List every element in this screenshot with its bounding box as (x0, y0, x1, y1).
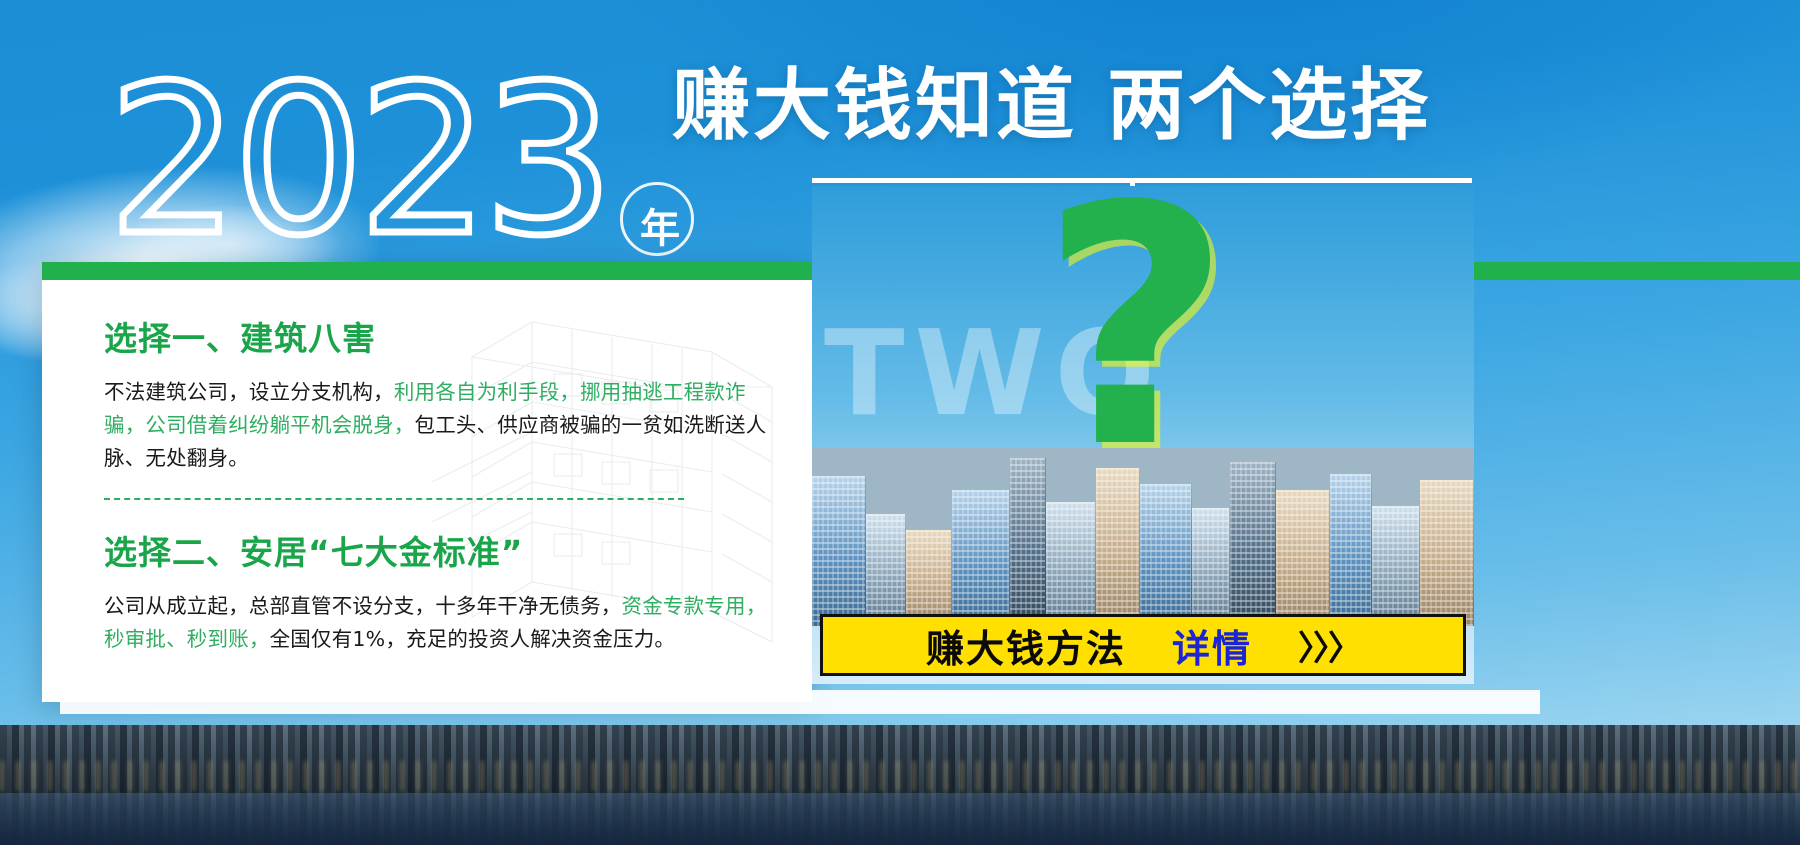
section-one-title: 选择一、建筑八害 (104, 312, 778, 360)
chevron-right-icon: 〉〉〉 (1298, 621, 1360, 670)
year-unit-label: 年 (640, 196, 682, 254)
card-body: 选择一、建筑八害 不法建筑公司，设立分支机构，利用各自为利手段，挪用抽逃工程款诈… (104, 312, 778, 656)
text-run: 不法建筑公司，设立分支机构， (104, 380, 394, 404)
section-one-body: 不法建筑公司，设立分支机构，利用各自为利手段，挪用抽逃工程款诈骗，公司借着纠纷躺… (104, 376, 778, 476)
right-visual-panel: TWO CHOICES ? 赚大钱方法 详情 〉〉〉 (812, 186, 1474, 684)
section-divider (104, 498, 684, 500)
city-skyline-photo (812, 448, 1474, 626)
text-run: 全国仅有1%，充足的投资人解决资金压力。 (270, 627, 676, 651)
green-accent-bar (1460, 262, 1800, 280)
year-number: 2023 (108, 58, 608, 264)
section-one: 选择一、建筑八害 不法建筑公司，设立分支机构，利用各自为利手段，挪用抽逃工程款诈… (104, 312, 778, 476)
cta-main-label: 赚大钱方法 (926, 618, 1126, 673)
cta-detail-link[interactable]: 详情 (1172, 618, 1252, 673)
bottom-city-strip (0, 725, 1800, 845)
question-mark-icon: ? (1040, 200, 1231, 457)
poster-canvas: 2023 年 赚大钱知道 两个选择 (0, 0, 1800, 845)
content-card: 选择一、建筑八害 不法建筑公司，设立分支机构，利用各自为利手段，挪用抽逃工程款诈… (42, 262, 812, 702)
strip-lights (0, 761, 1800, 791)
section-two: 选择二、安居“七大金标准” 公司从成立起，总部直管不设分支，十多年干净无债务，资… (104, 526, 778, 656)
white-base-slab (60, 690, 1540, 714)
cta-banner[interactable]: 赚大钱方法 详情 〉〉〉 (820, 614, 1466, 676)
card-top-accent (42, 262, 812, 280)
section-two-title: 选择二、安居“七大金标准” (104, 526, 778, 574)
strip-reflection (0, 793, 1800, 845)
text-run: 公司从成立起，总部直管不设分支，十多年干净无债务， (104, 594, 622, 618)
section-two-body: 公司从成立起，总部直管不设分支，十多年干净无债务，资金专款专用，秒审批、秒到账，… (104, 590, 778, 656)
